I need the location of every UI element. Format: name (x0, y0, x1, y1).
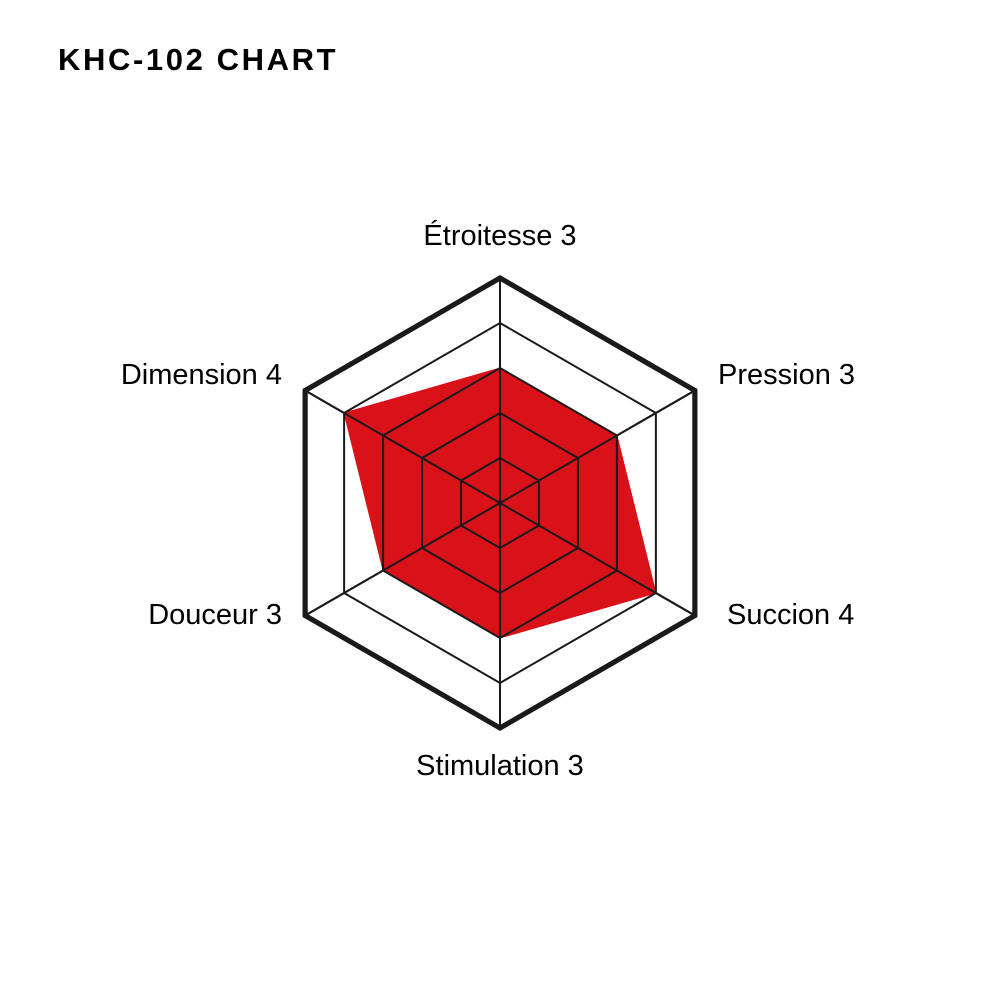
axis-label-pression: Pression 3 (718, 361, 855, 390)
axis-label-stimulation: Stimulation 3 (416, 752, 584, 781)
axis-label-dimension: Dimension 4 (121, 361, 282, 390)
axis-label-succion: Succion 4 (727, 601, 854, 630)
radar-chart (0, 0, 1000, 1000)
axis-label-etroitesse: Étroitesse 3 (423, 222, 576, 251)
axis-label-douceur: Douceur 3 (148, 601, 282, 630)
chart-page: KHC-102 CHART Étroitesse 3 Pression 3 Su… (0, 0, 1000, 1000)
